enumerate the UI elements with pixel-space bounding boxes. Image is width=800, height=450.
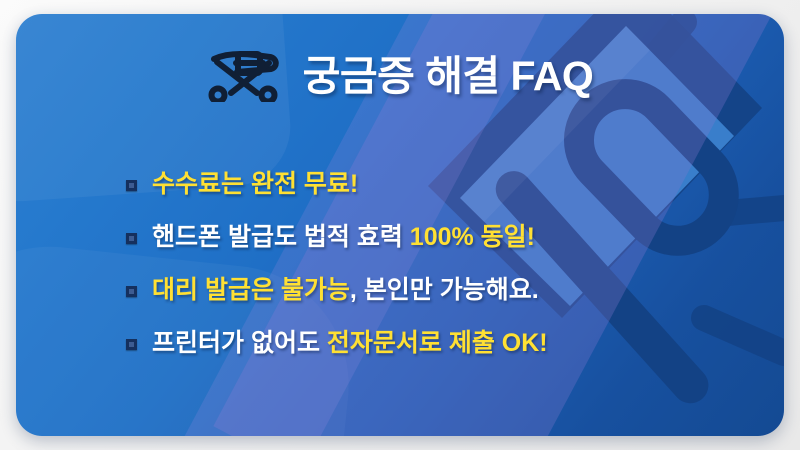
square-bullet-icon: [126, 339, 137, 350]
list-item: 핸드폰 발급도 법적 효력 100% 동일!: [126, 211, 744, 264]
list-item: 프린터가 없어도 전자문서로 제출 OK!: [126, 317, 744, 370]
faq-card: 궁금증 해결 FAQ 수수료는 완전 무료! 핸드폰 발급도 법적 효력 100…: [16, 14, 784, 436]
card-content: 궁금증 해결 FAQ 수수료는 완전 무료! 핸드폰 발급도 법적 효력 100…: [16, 14, 784, 436]
square-bullet-icon: [126, 180, 137, 191]
text-segment: , 본인만 가능해요.: [350, 276, 539, 304]
square-bullet-icon: [126, 286, 137, 297]
list-item: 수수료는 완전 무료!: [126, 158, 744, 211]
list-item: 대리 발급은 불가능, 본인만 가능해요.: [126, 264, 744, 317]
text-segment-highlight: 전자문서로 제출 OK!: [327, 329, 548, 357]
text-segment: 핸드폰 발급도 법적 효력: [152, 223, 410, 251]
stretcher-icon: [207, 50, 281, 102]
faq-bullet-list: 수수료는 완전 무료! 핸드폰 발급도 법적 효력 100% 동일! 대리 발급…: [126, 158, 744, 370]
list-item-text: 수수료는 완전 무료!: [152, 171, 358, 199]
square-bullet-icon: [126, 233, 137, 244]
page-title: 궁금증 해결 FAQ: [303, 56, 594, 97]
card-header: 궁금증 해결 FAQ: [16, 50, 784, 102]
text-segment-highlight: 대리 발급은 불가능: [152, 276, 350, 304]
list-item-text: 프린터가 없어도 전자문서로 제출 OK!: [152, 330, 548, 358]
list-item-text: 대리 발급은 불가능, 본인만 가능해요.: [152, 277, 539, 305]
text-segment: 프린터가 없어도: [152, 329, 327, 357]
list-item-text: 핸드폰 발급도 법적 효력 100% 동일!: [152, 224, 535, 252]
screenshot-stage: 궁금증 해결 FAQ 수수료는 완전 무료! 핸드폰 발급도 법적 효력 100…: [0, 0, 800, 450]
text-segment-highlight: 100% 동일!: [410, 223, 535, 251]
text-segment: 수수료는 완전 무료!: [152, 170, 358, 198]
